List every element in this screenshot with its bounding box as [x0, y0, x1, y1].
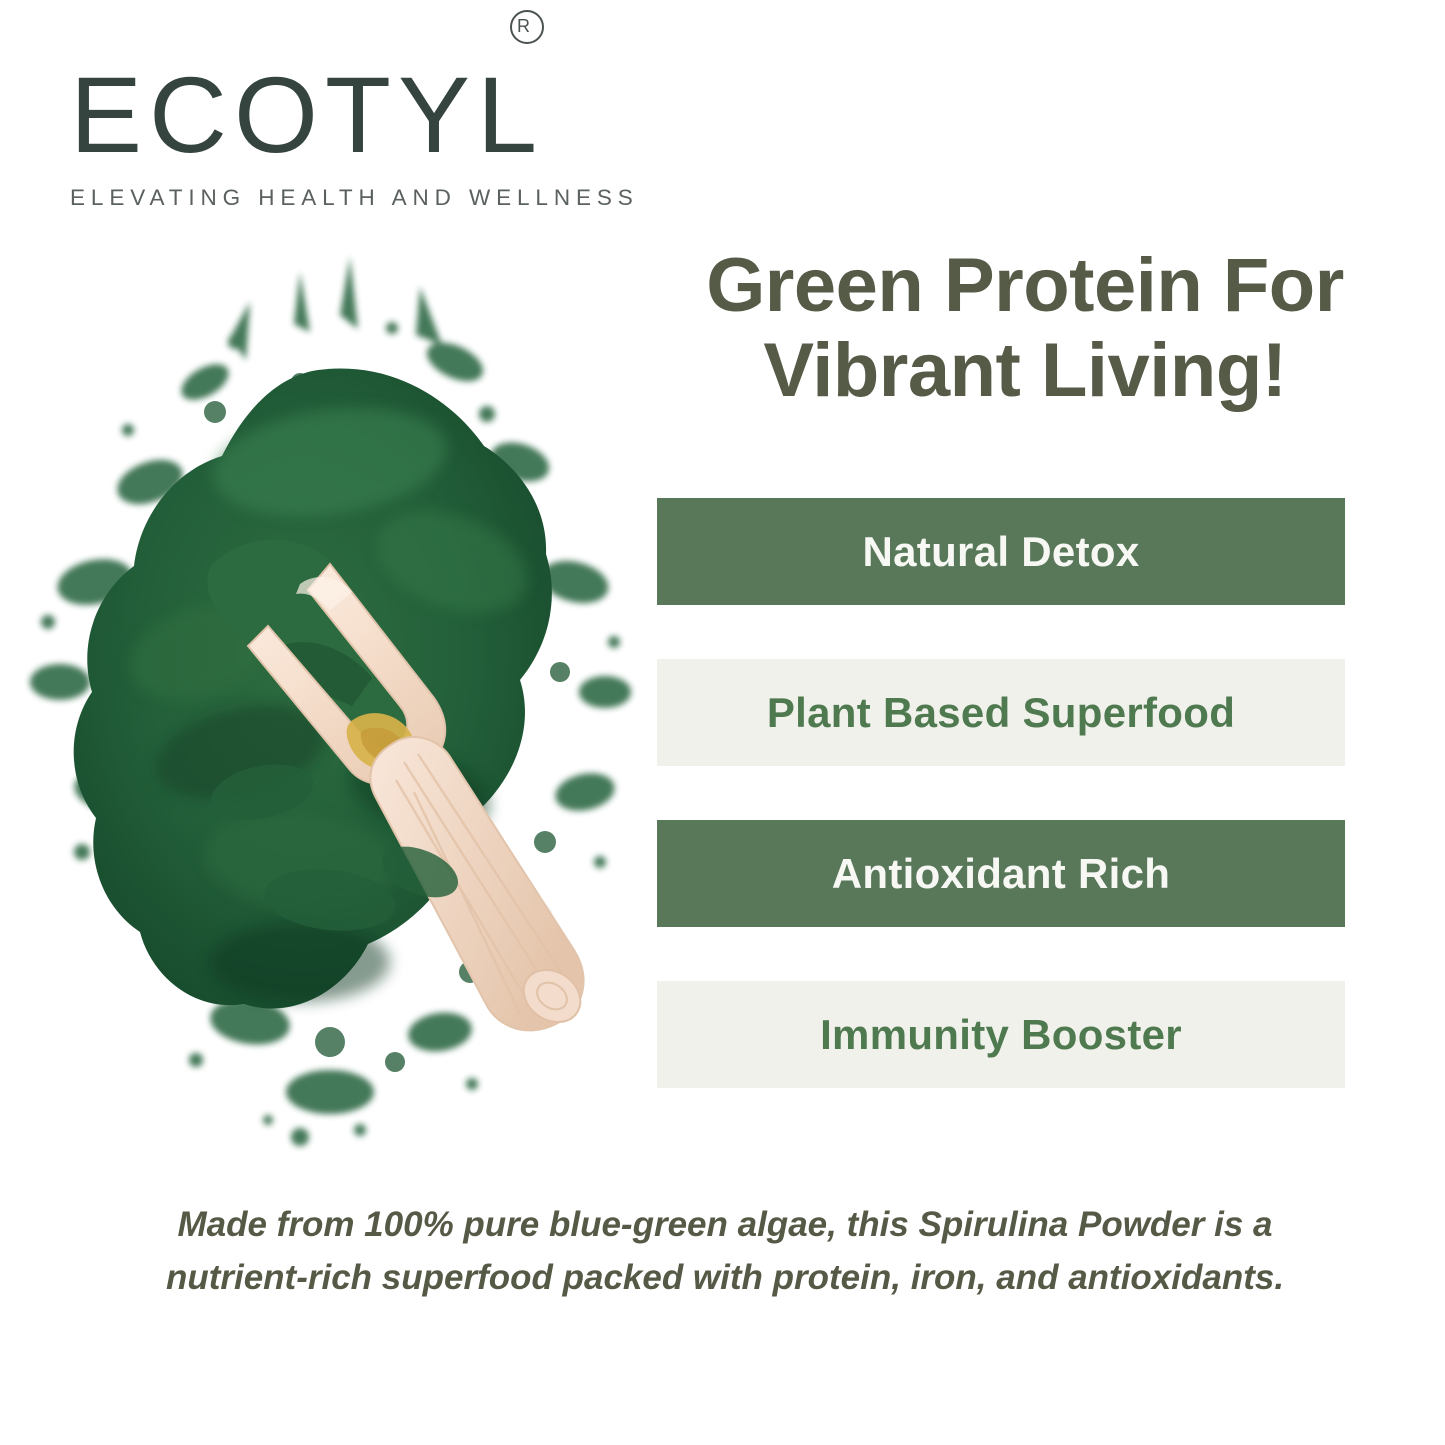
brand-logo: ECOTYL R ELEVATING HEALTH AND WELLNESS	[70, 58, 570, 211]
powder-illustration	[0, 232, 650, 1177]
page-title: Green Protein For Vibrant Living!	[630, 243, 1420, 413]
logo-wordmark: ECOTYL R	[70, 58, 570, 171]
registered-trademark-icon: R	[510, 10, 544, 44]
benefit-label: Immunity Booster	[820, 1011, 1182, 1059]
product-description: Made from 100% pure blue-green algae, th…	[110, 1198, 1340, 1304]
benefit-item-natural-detox: Natural Detox	[657, 498, 1345, 605]
benefit-item-antioxidant-rich: Antioxidant Rich	[657, 820, 1345, 927]
benefit-label: Antioxidant Rich	[832, 850, 1170, 898]
headline-line-1: Green Protein For	[630, 243, 1420, 328]
logo-tagline: ELEVATING HEALTH AND WELLNESS	[70, 185, 570, 211]
benefit-list: Natural Detox Plant Based Superfood Anti…	[657, 498, 1345, 1142]
spirulina-powder-photo	[0, 232, 650, 1177]
product-marketing-banner: ECOTYL R ELEVATING HEALTH AND WELLNESS	[0, 0, 1445, 1445]
benefit-label: Natural Detox	[863, 528, 1140, 576]
logo-wordmark-text: ECOTYL	[70, 54, 544, 175]
benefit-label: Plant Based Superfood	[767, 689, 1235, 737]
benefit-item-plant-based-superfood: Plant Based Superfood	[657, 659, 1345, 766]
headline-line-2: Vibrant Living!	[630, 328, 1420, 413]
benefit-item-immunity-booster: Immunity Booster	[657, 981, 1345, 1088]
